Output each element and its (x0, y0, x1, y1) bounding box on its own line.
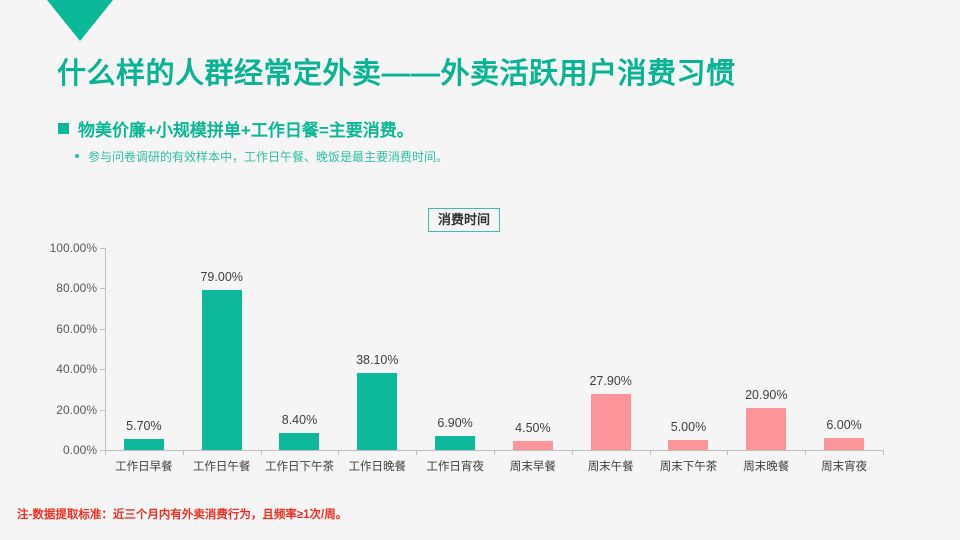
y-tick-label: 20.00% (56, 403, 97, 417)
x-axis-category-label: 周末下午茶 (660, 458, 718, 474)
x-axis-category-label: 工作日午餐 (193, 458, 251, 474)
bar-group: 6.90%工作日宵夜 (416, 248, 494, 450)
bar[interactable] (746, 408, 786, 450)
x-tick-mark (416, 450, 417, 455)
square-bullet-icon (58, 123, 69, 134)
chart-title: 消费时间 (428, 208, 500, 232)
x-tick-mark (805, 450, 806, 455)
bar[interactable] (124, 439, 164, 451)
bullet-text: 参与问卷调研的有效样本中，工作日午餐、晚饭是最主要消费时间。 (88, 148, 448, 165)
x-tick-mark (338, 450, 339, 455)
bar-group: 5.70%工作日早餐 (105, 248, 183, 450)
y-tick-label: 100.00% (50, 241, 97, 255)
x-axis-category-label: 工作日晚餐 (349, 458, 407, 474)
bar-value-label: 38.10% (356, 353, 398, 367)
subtitle-row: 物美价廉+小规模拼单+工作日餐=主要消费。 (58, 116, 414, 141)
dot-bullet-icon (75, 154, 79, 158)
bullet-row: 参与问卷调研的有效样本中，工作日午餐、晚饭是最主要消费时间。 (75, 148, 448, 165)
x-tick-mark (650, 450, 651, 455)
bar-value-label: 6.90% (437, 416, 472, 430)
bar-group: 79.00%工作日午餐 (183, 248, 261, 450)
page-title: 什么样的人群经常定外卖——外卖活跃用户消费习惯 (57, 50, 736, 92)
bar-group: 27.90%周末午餐 (572, 248, 650, 450)
bar-value-label: 27.90% (589, 374, 631, 388)
bar[interactable] (202, 290, 242, 450)
bar-group: 8.40%工作日下午茶 (261, 248, 339, 450)
y-tick-label: 60.00% (56, 322, 97, 336)
bar-group: 38.10%工作日晚餐 (338, 248, 416, 450)
bar-value-label: 20.90% (745, 388, 787, 402)
bar[interactable] (435, 436, 475, 450)
x-axis-category-label: 工作日宵夜 (426, 458, 484, 474)
bar-value-label: 5.00% (671, 420, 706, 434)
x-axis-category-label: 工作日早餐 (115, 458, 173, 474)
x-tick-mark (727, 450, 728, 455)
y-tick-label: 40.00% (56, 362, 97, 376)
bar[interactable] (513, 441, 553, 450)
subtitle-text: 物美价廉+小规模拼单+工作日餐=主要消费。 (78, 116, 414, 141)
bar-value-label: 8.40% (282, 413, 317, 427)
bars-layer: 5.70%工作日早餐79.00%工作日午餐8.40%工作日下午茶38.10%工作… (105, 248, 883, 450)
bar-value-label: 79.00% (200, 270, 242, 284)
x-tick-mark (494, 450, 495, 455)
x-tick-mark (883, 450, 884, 455)
bar[interactable] (824, 438, 864, 450)
x-tick-mark (572, 450, 573, 455)
x-tick-mark (183, 450, 184, 455)
bar-value-label: 4.50% (515, 421, 550, 435)
y-tick-label: 0.00% (63, 443, 97, 457)
x-tick-mark (105, 450, 106, 455)
bar[interactable] (668, 440, 708, 450)
bar-group: 4.50%周末早餐 (494, 248, 572, 450)
bar-group: 5.00%周末下午茶 (650, 248, 728, 450)
y-tick-label: 80.00% (56, 281, 97, 295)
bar-value-label: 5.70% (126, 419, 161, 433)
x-tick-mark (261, 450, 262, 455)
x-axis-category-label: 周末午餐 (588, 458, 634, 474)
decorative-triangle (47, 0, 113, 41)
x-axis-category-label: 周末宵夜 (821, 458, 867, 474)
bar[interactable] (279, 433, 319, 450)
x-axis-category-label: 工作日下午茶 (265, 458, 334, 474)
bar[interactable] (591, 394, 631, 450)
x-axis-category-label: 周末晚餐 (743, 458, 789, 474)
x-axis-category-label: 周末早餐 (510, 458, 556, 474)
bar-chart: 消费时间 0.00%20.00%40.00%60.00%80.00%100.00… (0, 190, 960, 490)
bar-value-label: 6.00% (826, 418, 861, 432)
plot-area: 0.00%20.00%40.00%60.00%80.00%100.00% 5.7… (105, 248, 883, 450)
footnote: 注-数据提取标准：近三个月内有外卖消费行为，且频率≥1次/周。 (17, 506, 347, 522)
bar-group: 6.00%周末宵夜 (805, 248, 883, 450)
bar[interactable] (357, 373, 397, 450)
bar-group: 20.90%周末晚餐 (727, 248, 805, 450)
